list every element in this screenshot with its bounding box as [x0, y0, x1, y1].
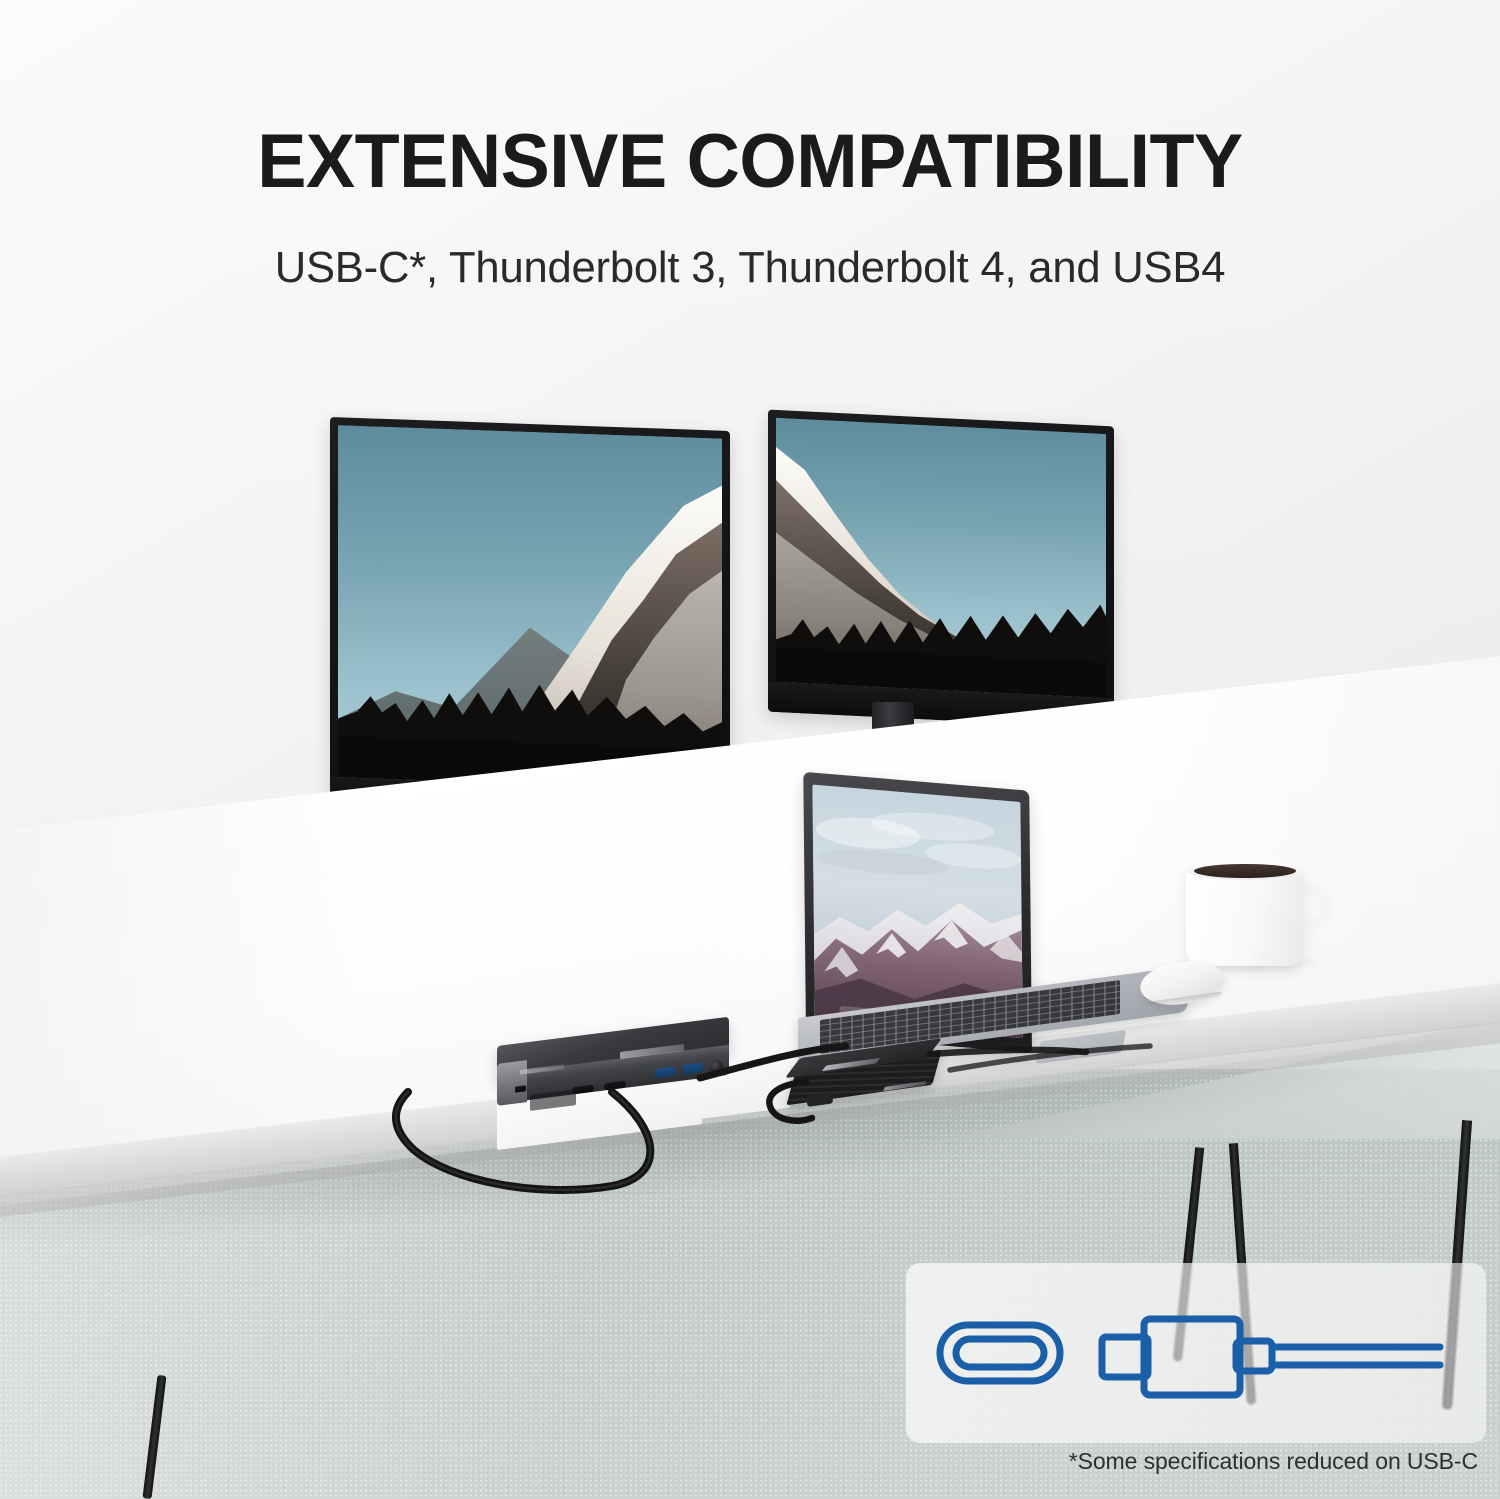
usb-c-plug-cable-icon	[1102, 1319, 1440, 1395]
monitor-left-screen	[338, 425, 722, 790]
monitor-right	[768, 410, 1114, 729]
usb-c-port-icon	[940, 1325, 1060, 1381]
page-title: EXTENSIVE COMPATIBILITY	[23, 118, 1478, 205]
wallpaper-mountain-left	[338, 425, 722, 790]
docking-station-left-cap	[497, 1060, 527, 1106]
usb-c-connector-badge	[906, 1263, 1486, 1443]
footnote-text: *Some specifications reduced on USB-C	[906, 1448, 1486, 1475]
page-subtitle: USB-C*, Thunderbolt 3, Thunderbolt 4, an…	[8, 243, 1493, 293]
monitor-right-screen	[776, 418, 1106, 698]
coffee-liquid	[1194, 864, 1296, 878]
badge-icon-group	[906, 1263, 1486, 1443]
marketing-image: EXTENSIVE COMPATIBILITY USB-C*, Thunderb…	[0, 0, 1500, 1499]
wallpaper-mountain-right	[776, 418, 1106, 698]
coffee-mug	[1186, 866, 1304, 966]
